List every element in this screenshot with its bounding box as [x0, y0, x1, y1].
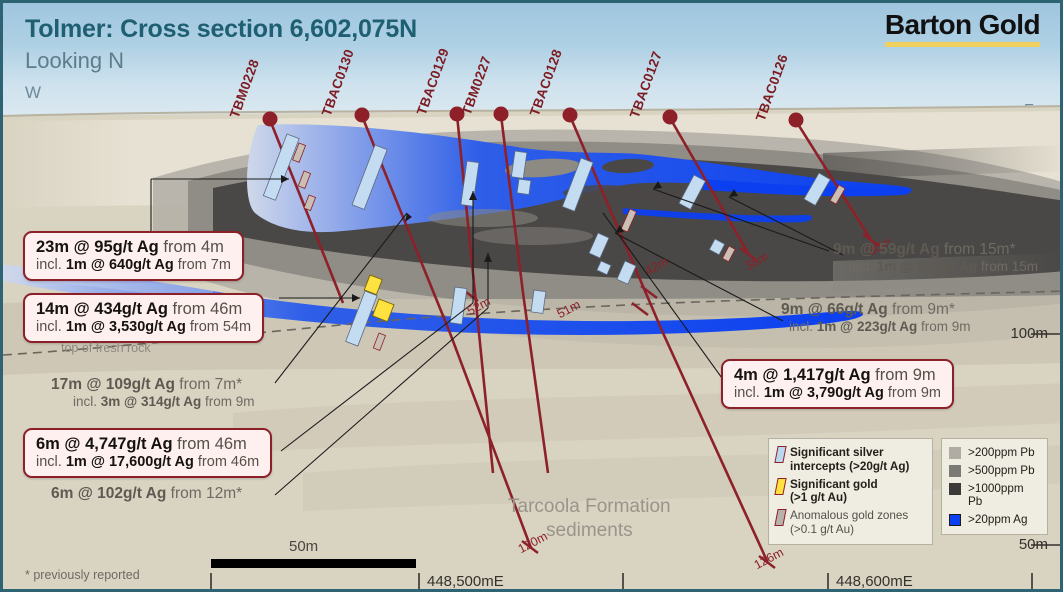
axis-ticks-layer [3, 3, 1063, 592]
cross-section-figure: Tolmer: Cross section 6,602,075N Looking… [0, 0, 1063, 592]
